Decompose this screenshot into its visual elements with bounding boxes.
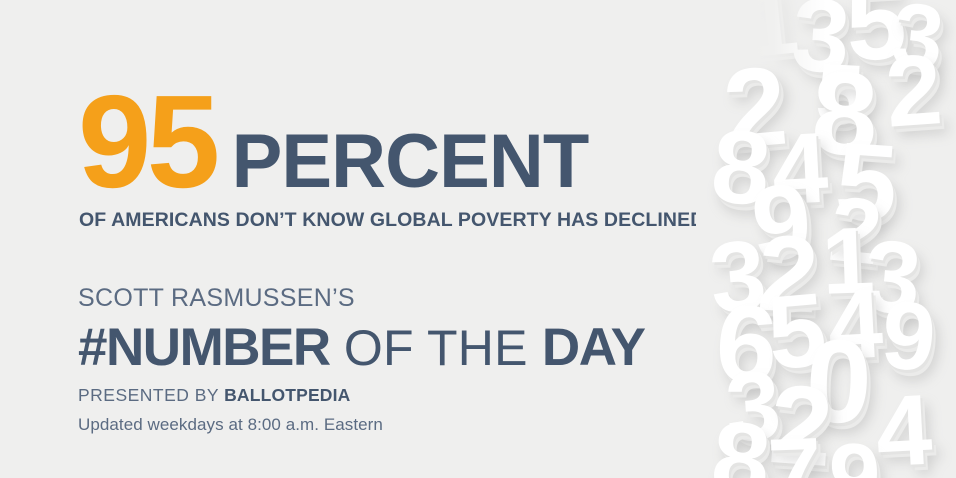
brand-title-of-the: OF THE bbox=[330, 320, 542, 376]
decorative-numeral: 2 bbox=[767, 380, 833, 471]
decorative-numeral: 3 bbox=[861, 236, 922, 320]
numbers-fade-overlay bbox=[696, 0, 956, 478]
big-number-unit: PERCENT bbox=[232, 124, 589, 200]
decorative-numeral: 8 bbox=[810, 67, 876, 161]
decorative-numeral: 4 bbox=[826, 285, 882, 364]
decorative-numeral: 4 bbox=[770, 129, 828, 210]
big-number-value: 95 bbox=[78, 76, 216, 208]
presented-by-label: PRESENTED BY bbox=[78, 385, 224, 405]
brand-block: SCOTT RASMUSSEN’S #NUMBER OF THE DAY PRE… bbox=[78, 286, 645, 433]
numbers-collage-decoration: 1353252884592321349650324879 bbox=[696, 0, 956, 478]
number-of-the-day-card: 1353252884592321349650324879 95 PERCENT … bbox=[0, 0, 956, 478]
decorative-numeral: 2 bbox=[826, 194, 883, 271]
decorative-numeral: 5 bbox=[765, 290, 828, 376]
decorative-numeral: 5 bbox=[833, 138, 898, 228]
decorative-numeral: 9 bbox=[826, 439, 880, 478]
presented-by-line: PRESENTED BY BALLOTPEDIA bbox=[78, 387, 645, 405]
decorative-numeral: 3 bbox=[888, 0, 945, 76]
decorative-numeral: 2 bbox=[720, 62, 787, 154]
decorative-numeral: 5 bbox=[844, 0, 906, 66]
decorative-numeral: 3 bbox=[723, 366, 781, 446]
decorative-numeral: 2 bbox=[756, 231, 818, 318]
brand-kicker: SCOTT RASMUSSEN’S bbox=[78, 286, 645, 311]
decorative-numeral: 9 bbox=[879, 298, 936, 376]
update-schedule-note: Updated weekdays at 8:00 a.m. Eastern bbox=[78, 416, 645, 433]
decorative-numeral: 1 bbox=[821, 223, 874, 298]
decorative-numeral: 0 bbox=[804, 335, 870, 429]
decorative-numeral: 2 bbox=[883, 50, 942, 132]
headline-subtitle: OF AMERICANS DON’T KNOW GLOBAL POVERTY H… bbox=[79, 209, 704, 232]
decorative-numeral: 5 bbox=[814, 61, 864, 130]
brand-title-hashtag-number: #NUMBER bbox=[78, 318, 330, 377]
decorative-numeral: 4 bbox=[874, 391, 932, 472]
decorative-numeral: 3 bbox=[789, 0, 850, 79]
headline: 95 PERCENT bbox=[78, 76, 588, 208]
brand-title-day: DAY bbox=[542, 318, 645, 377]
decorative-numeral: 3 bbox=[707, 236, 767, 318]
brand-title: #NUMBER OF THE DAY bbox=[78, 321, 645, 374]
decorative-numeral: 6 bbox=[714, 301, 777, 390]
decorative-numeral: 7 bbox=[767, 435, 821, 478]
decorative-numeral: 1 bbox=[740, 0, 799, 63]
decorative-numeral: 8 bbox=[709, 418, 772, 478]
decorative-numeral: 8 bbox=[709, 126, 772, 212]
decorative-numeral: 9 bbox=[749, 180, 811, 266]
sponsor-name: BALLOTPEDIA bbox=[224, 385, 350, 405]
